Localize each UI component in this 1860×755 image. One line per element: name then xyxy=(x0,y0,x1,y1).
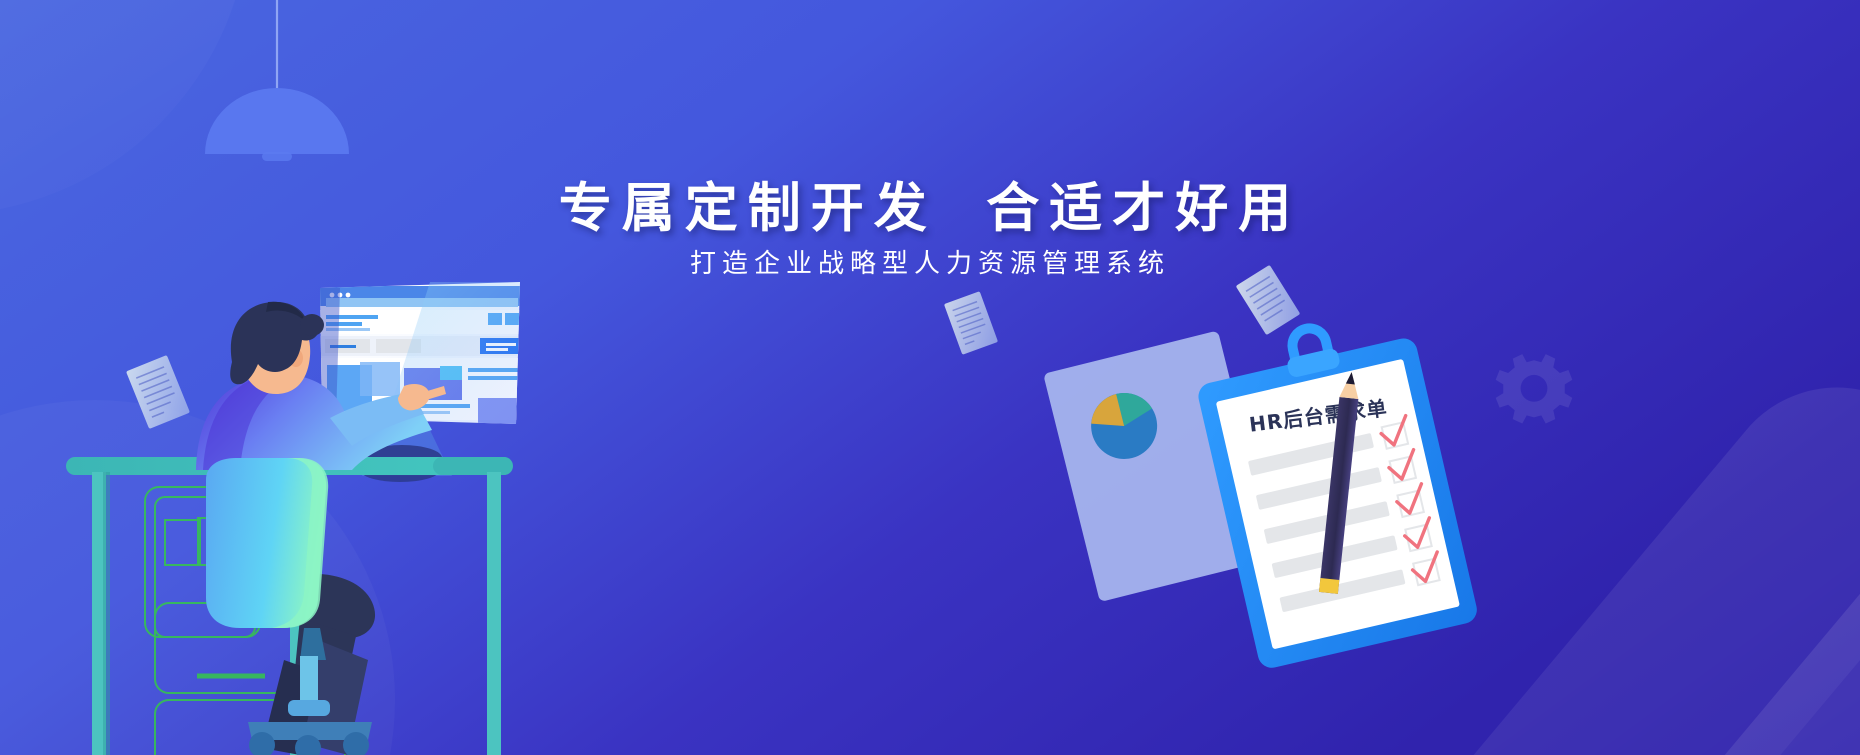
clipboard-scene: HR后台需求单 xyxy=(1043,301,1479,671)
illustration-layer: HR后台需求单 xyxy=(0,0,1860,755)
hero-banner: HR后台需求单 xyxy=(0,0,1860,755)
clipboard: HR后台需求单 xyxy=(1188,301,1480,671)
